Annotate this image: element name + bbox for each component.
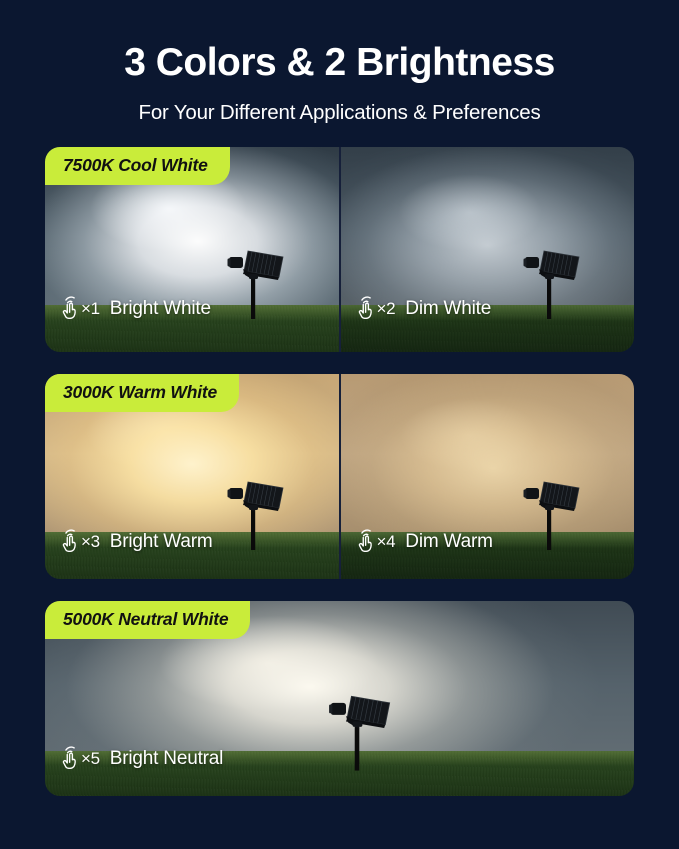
solar-spotlight-fixture — [517, 472, 583, 550]
badge-color-temperature: 7500K Cool White — [45, 147, 230, 185]
caption-label: Bright White — [110, 298, 211, 320]
header: 3 Colors & 2 Brightness For Your Differe… — [0, 0, 679, 125]
panel-bright-neutral[interactable]: ×5 Bright Neutral 5000K Neutral White — [45, 601, 634, 796]
page-title: 3 Colors & 2 Brightness — [0, 42, 679, 85]
panel-dim-white[interactable]: ×2 Dim White — [339, 147, 635, 352]
caption-label: Bright Neutral — [110, 748, 223, 770]
solar-spotlight-fixture — [517, 241, 583, 319]
caption-label: Dim Warm — [405, 531, 492, 553]
page-subtitle: For Your Different Applications & Prefer… — [0, 101, 679, 125]
badge-color-temperature: 5000K Neutral White — [45, 601, 250, 639]
solar-spotlight-fixture — [221, 472, 287, 550]
tap-hand-icon — [59, 746, 81, 772]
caption-bright-neutral: ×5 Bright Neutral — [59, 746, 223, 772]
panel-bright-white[interactable]: ×1 Bright White 7500K Cool White — [45, 147, 339, 352]
caption-count: ×1 — [81, 299, 100, 319]
panel-dim-warm[interactable]: ×4 Dim Warm — [339, 374, 635, 579]
caption-count: ×5 — [81, 749, 100, 769]
caption-label: Bright Warm — [110, 531, 213, 553]
caption-count: ×2 — [377, 299, 396, 319]
caption-count: ×3 — [81, 532, 100, 552]
badge-color-temperature: 3000K Warm White — [45, 374, 239, 412]
tap-hand-icon — [59, 529, 81, 555]
solar-spotlight-fixture — [322, 685, 394, 771]
card-neutral-white: ×5 Bright Neutral 5000K Neutral White — [45, 601, 634, 796]
caption-label: Dim White — [405, 298, 491, 320]
tap-hand-icon — [355, 529, 377, 555]
solar-spotlight-fixture — [221, 241, 287, 319]
color-mode-cards: ×1 Bright White 7500K Cool White — [0, 147, 679, 796]
panel-bright-warm[interactable]: ×3 Bright Warm 3000K Warm White — [45, 374, 339, 579]
caption-count: ×4 — [377, 532, 396, 552]
caption-dim-warm: ×4 Dim Warm — [355, 529, 493, 555]
tap-hand-icon — [59, 296, 81, 322]
caption-bright-warm: ×3 Bright Warm — [59, 529, 212, 555]
card-cool-white: ×1 Bright White 7500K Cool White — [45, 147, 634, 352]
tap-hand-icon — [355, 296, 377, 322]
caption-bright-white: ×1 Bright White — [59, 296, 211, 322]
caption-dim-white: ×2 Dim White — [355, 296, 492, 322]
card-warm-white: ×3 Bright Warm 3000K Warm White — [45, 374, 634, 579]
